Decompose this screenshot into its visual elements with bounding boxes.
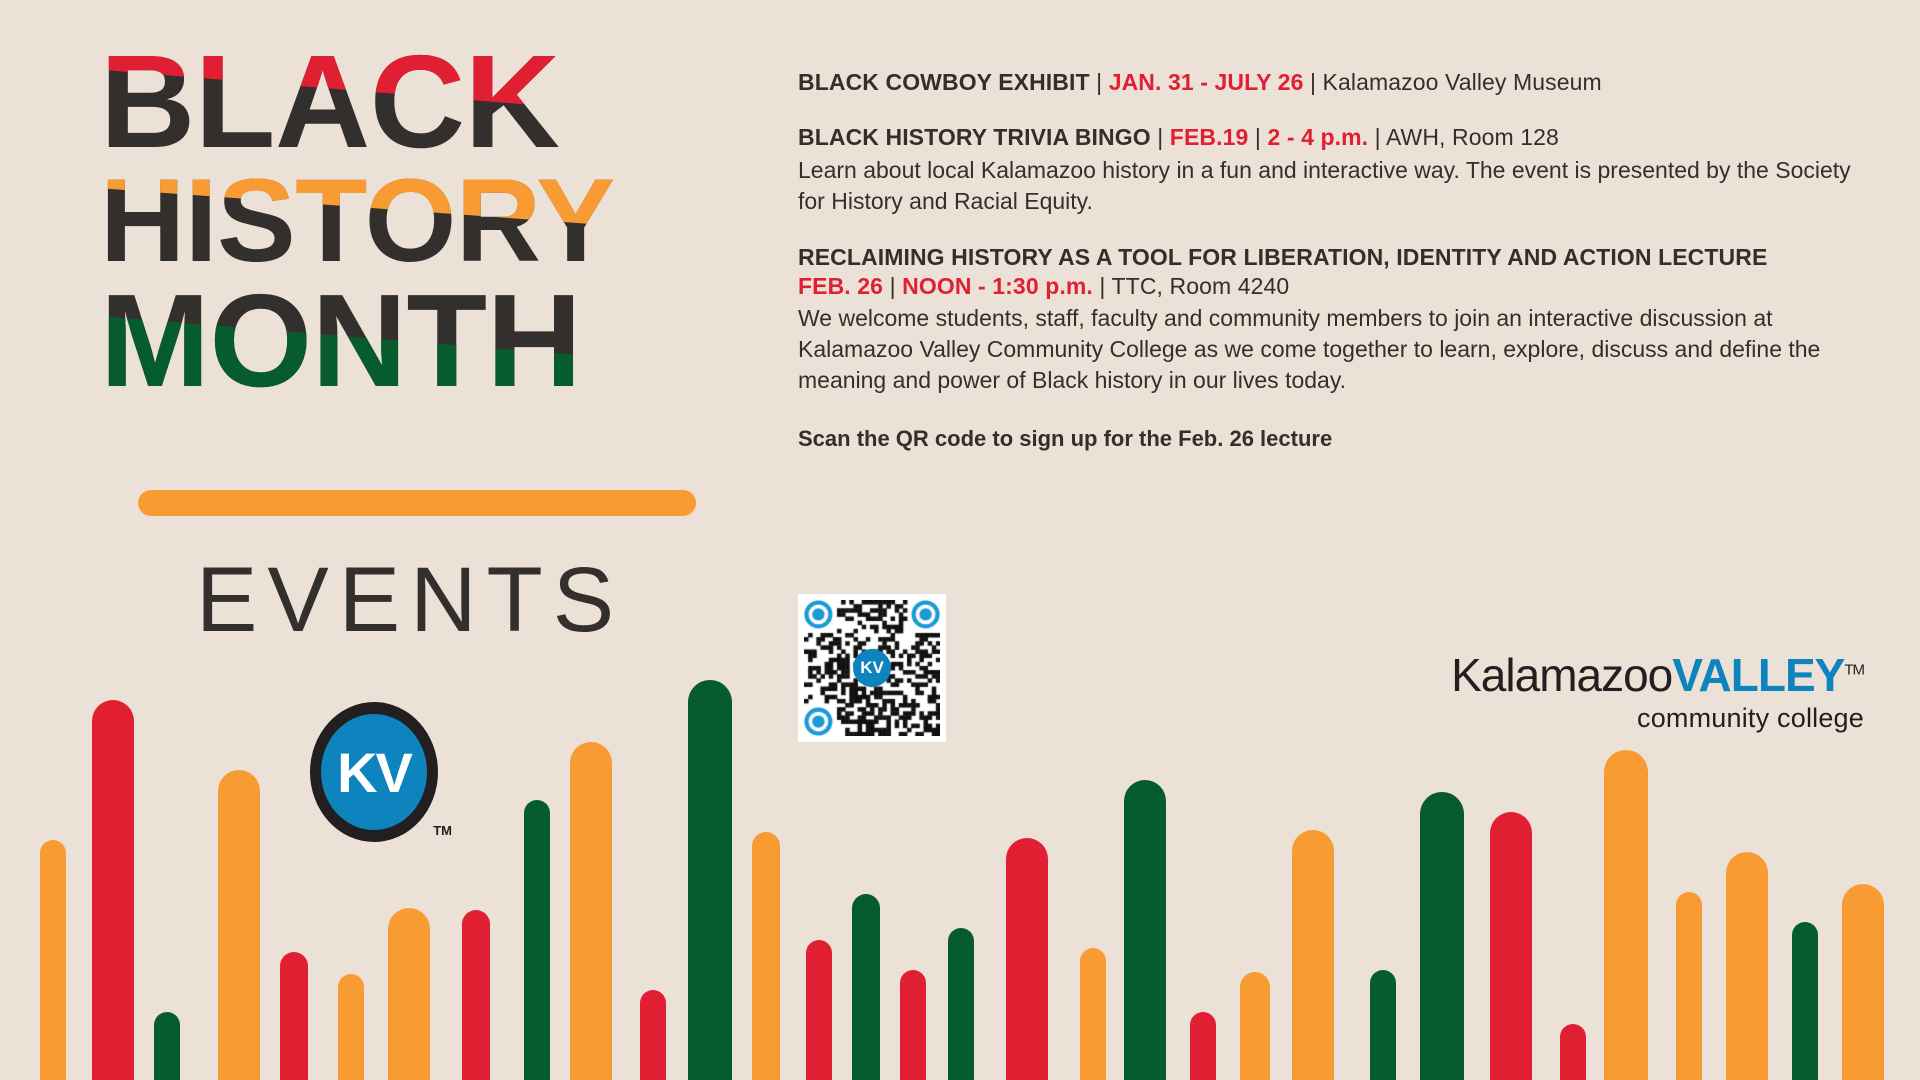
chart-bar: [1240, 972, 1270, 1080]
event-headline-details: FEB. 26 | NOON - 1:30 p.m. | TTC, Room 4…: [798, 272, 1858, 301]
event-location: Kalamazoo Valley Museum: [1323, 69, 1602, 95]
title-word-month: MONTH MONTH: [100, 279, 740, 403]
chart-bar: [1792, 922, 1818, 1080]
chart-bar: [1370, 970, 1396, 1080]
event-title: RECLAIMING HISTORY AS A TOOL FOR LIBERAT…: [798, 243, 1858, 272]
chart-bar: [570, 742, 612, 1080]
chart-bar: [752, 832, 780, 1080]
chart-bar: [1080, 948, 1106, 1080]
chart-bar: [338, 974, 364, 1080]
chart-bar: [1842, 884, 1884, 1080]
chart-bar: [1676, 892, 1702, 1080]
chart-bar: [948, 928, 974, 1080]
event-description: Learn about local Kalamazoo history in a…: [798, 155, 1858, 217]
separator-icon: |: [1303, 69, 1322, 95]
event-description: We welcome students, staff, faculty and …: [798, 303, 1858, 395]
event-location: TTC, Room 4240: [1112, 273, 1290, 299]
events-subtitle: EVENTS: [196, 548, 624, 653]
chart-bar: [1490, 812, 1532, 1080]
chart-bar: [1124, 780, 1166, 1080]
event-location: AWH, Room 128: [1386, 124, 1559, 150]
chart-bar: [218, 770, 260, 1080]
chart-bar: [640, 990, 666, 1080]
title-word-month-base: MONTH: [100, 279, 740, 403]
event-black-history-trivia-bingo: BLACK HISTORY TRIVIA BINGO | FEB.19 | 2 …: [798, 123, 1858, 216]
chart-bar: [40, 840, 66, 1080]
event-time: NOON - 1:30 p.m.: [902, 273, 1093, 299]
chart-bar: [1292, 830, 1334, 1080]
chart-bar: [1006, 838, 1048, 1080]
chart-bar: [524, 800, 550, 1080]
chart-bar: [1604, 750, 1648, 1080]
event-title: BLACK HISTORY TRIVIA BINGO: [798, 124, 1151, 150]
event-black-cowboy-exhibit: BLACK COWBOY EXHIBIT | JAN. 31 - JULY 26…: [798, 68, 1858, 97]
qr-caption: Scan the QR code to sign up for the Feb.…: [798, 426, 1858, 452]
chart-bar: [1726, 852, 1768, 1080]
title-word-black-base: BLACK: [100, 40, 740, 164]
title-word-history: HISTORY HISTORY: [100, 166, 740, 277]
chart-bar: [1190, 1012, 1216, 1080]
bhm-wordmark: BLACK BLACK HISTORY HISTORY MONTH MONTH: [100, 40, 740, 403]
separator-icon: |: [1151, 124, 1170, 150]
event-headline: BLACK HISTORY TRIVIA BINGO | FEB.19 | 2 …: [798, 123, 1858, 152]
event-date: FEB.19: [1170, 124, 1249, 150]
black-history-month-poster: BLACK BLACK HISTORY HISTORY MONTH MONTH …: [0, 0, 1920, 1080]
chart-bar: [154, 1012, 180, 1080]
event-date: JAN. 31 - JULY 26: [1109, 69, 1304, 95]
separator-icon: |: [1090, 69, 1109, 95]
separator-icon: |: [1368, 124, 1386, 150]
chart-bar: [1560, 1024, 1586, 1080]
title-panel: BLACK BLACK HISTORY HISTORY MONTH MONTH …: [0, 0, 760, 720]
chart-bar: [462, 910, 490, 1080]
event-reclaiming-history-lecture: RECLAIMING HISTORY AS A TOOL FOR LIBERAT…: [798, 243, 1858, 396]
chart-bar: [806, 940, 832, 1080]
separator-icon: |: [1248, 124, 1267, 150]
chart-bar: [1420, 792, 1464, 1080]
event-time: 2 - 4 p.m.: [1267, 124, 1368, 150]
event-title: BLACK COWBOY EXHIBIT: [798, 69, 1090, 95]
separator-icon: |: [883, 273, 902, 299]
event-headline: BLACK COWBOY EXHIBIT | JAN. 31 - JULY 26…: [798, 68, 1858, 97]
title-word-black: BLACK BLACK: [100, 40, 740, 164]
orange-divider-rule: [138, 490, 696, 516]
event-date: FEB. 26: [798, 273, 883, 299]
chart-bar: [280, 952, 308, 1080]
chart-bar: [688, 680, 732, 1080]
separator-icon: |: [1093, 273, 1112, 299]
chart-bar: [92, 700, 134, 1080]
events-listing: BLACK COWBOY EXHIBIT | JAN. 31 - JULY 26…: [798, 68, 1858, 452]
decorative-bar-chart: [0, 660, 1920, 1080]
chart-bar: [900, 970, 926, 1080]
title-word-history-base: HISTORY: [100, 166, 740, 277]
chart-bar: [852, 894, 880, 1080]
chart-bar: [388, 908, 430, 1080]
